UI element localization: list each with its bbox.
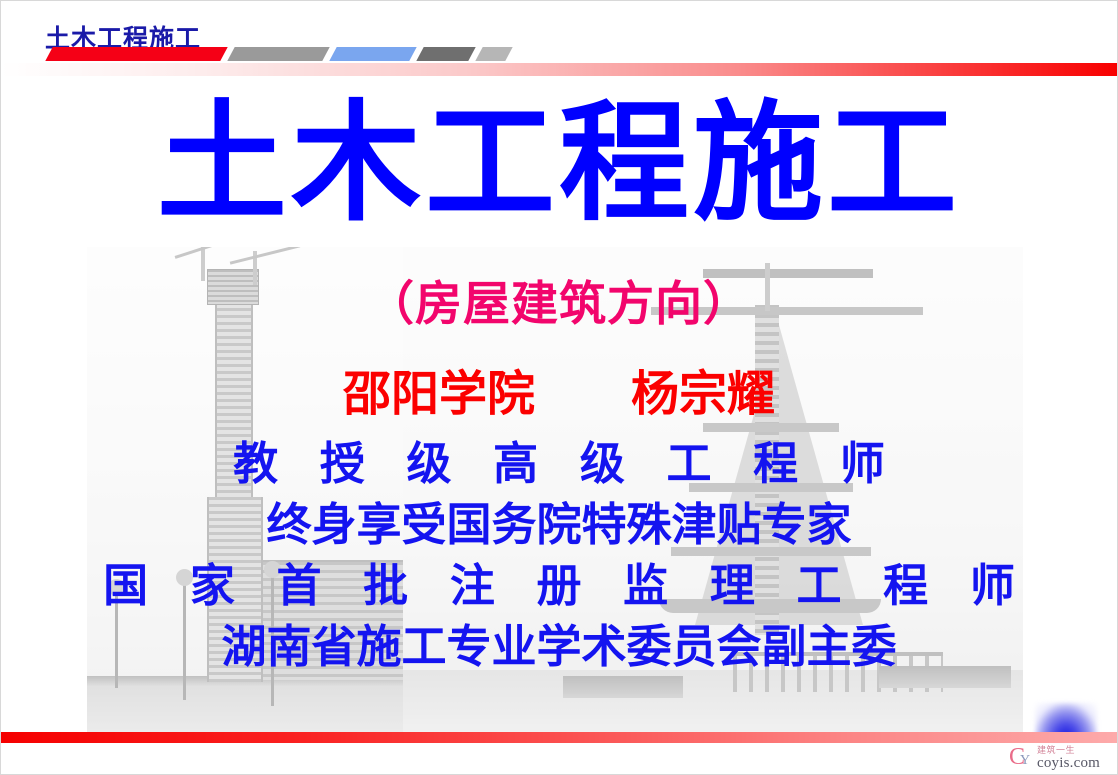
credential-line: 国 家 首 批 注 册 监 理 工 程 师 [1,555,1117,616]
slide-content: 土木工程施工 （房屋建筑方向） 邵阳学院 杨宗耀 教 授 级 高 级 工 程 师… [1,1,1117,774]
watermark-url: coyis.com [1037,756,1100,771]
logo-letter-y: Y [1020,754,1030,768]
presentation-slide: 土木工程施工 土木工程施工 （房屋建筑方向） 邵阳学院 杨宗耀 教 授 级 高 … [0,0,1118,775]
watermark-text: 建筑一生 coyis.com [1037,747,1100,771]
page-subtitle: （房屋建筑方向） [1,265,1117,334]
watermark[interactable]: C Y 建筑一生 coyis.com [1009,746,1100,771]
credentials-block: 教 授 级 高 级 工 程 师 终身享受国务院特殊津贴专家 国 家 首 批 注 … [1,433,1117,677]
coyis-logo-icon: C Y [1009,746,1034,771]
bottom-gradient-bar [1,732,1117,743]
credential-line: 教 授 级 高 级 工 程 师 [1,433,1117,494]
credential-line: 终身享受国务院特殊津贴专家 [1,494,1117,555]
page-title: 土木工程施工 [1,97,1117,230]
credential-line: 湖南省施工专业学术委员会副主委 [1,616,1117,677]
author-line: 邵阳学院 杨宗耀 [1,354,1117,424]
